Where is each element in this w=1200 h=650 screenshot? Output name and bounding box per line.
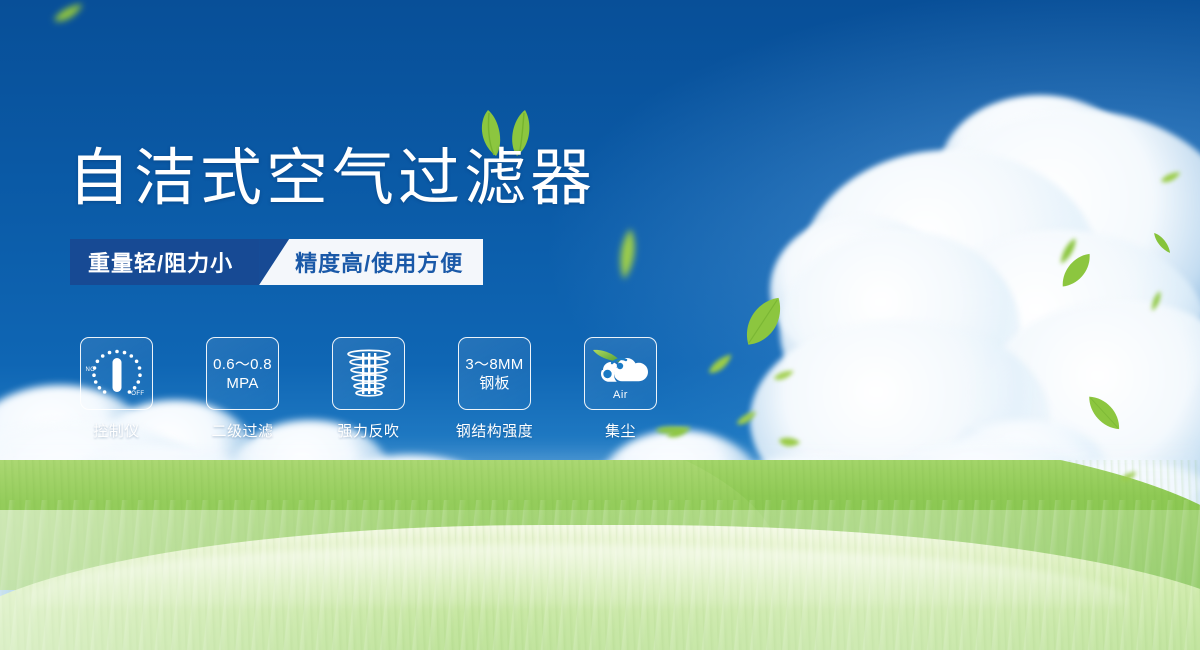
subtitle-bar: 重量轻/阻力小 精度高/使用方便: [70, 239, 483, 285]
feature-item-steel[interactable]: 3～8MM 钢板 钢结构强度: [458, 337, 531, 441]
subtitle-left: 重量轻/阻力小: [70, 239, 259, 285]
feature-icon-box: 3～8MM 钢板: [458, 337, 531, 410]
air-label: Air: [591, 389, 651, 401]
subtitle-divider: [259, 239, 289, 285]
subtitle-right: 精度高/使用方便: [289, 239, 483, 285]
steel-plate-text-icon: 3～8MM 钢板: [465, 355, 523, 393]
feature-item-blowback[interactable]: 强力反吹: [332, 337, 405, 441]
feature-label: 集尘: [605, 420, 636, 441]
feature-icon-box: NO OFF: [80, 337, 153, 410]
dial-on-label: NO: [86, 367, 96, 373]
steel-line-2: 钢板: [465, 374, 523, 393]
feature-icon-box: Air: [584, 337, 657, 410]
banner-content: 自洁式空气过滤器 重量轻/阻力小 精度高/使用方便: [0, 0, 1200, 650]
feature-item-control[interactable]: NO OFF 控制仪: [80, 337, 153, 441]
air-cloud-icon: Air: [591, 348, 651, 400]
page-title: 自洁式空气过滤器: [68, 143, 596, 215]
feature-label: 强力反吹: [337, 420, 399, 441]
feature-item-pressure[interactable]: 0.6～0.8 MPA 二级过滤: [206, 337, 279, 441]
pressure-line-1: 0.6～0.8: [213, 356, 272, 373]
feature-icon-box: [332, 337, 405, 410]
filter-coil-icon: [343, 348, 395, 400]
feature-label: 二级过滤: [211, 420, 273, 441]
feature-icon-box: 0.6～0.8 MPA: [206, 337, 279, 410]
feature-label: 钢结构强度: [456, 420, 534, 441]
pressure-text-icon: 0.6～0.8 MPA: [213, 355, 272, 393]
control-dial-icon: NO OFF: [88, 345, 146, 403]
dial-off-label: OFF: [131, 391, 144, 397]
feature-list: NO OFF 控制仪 0.6～0.8 MPA 二级过滤: [80, 337, 657, 441]
pressure-line-2: MPA: [213, 374, 272, 393]
feature-label: 控制仪: [93, 420, 140, 441]
banner-stage: 自洁式空气过滤器 重量轻/阻力小 精度高/使用方便: [0, 0, 1200, 650]
feature-item-dust[interactable]: Air 集尘: [584, 337, 657, 441]
steel-line-1: 3～8MM: [465, 356, 523, 373]
